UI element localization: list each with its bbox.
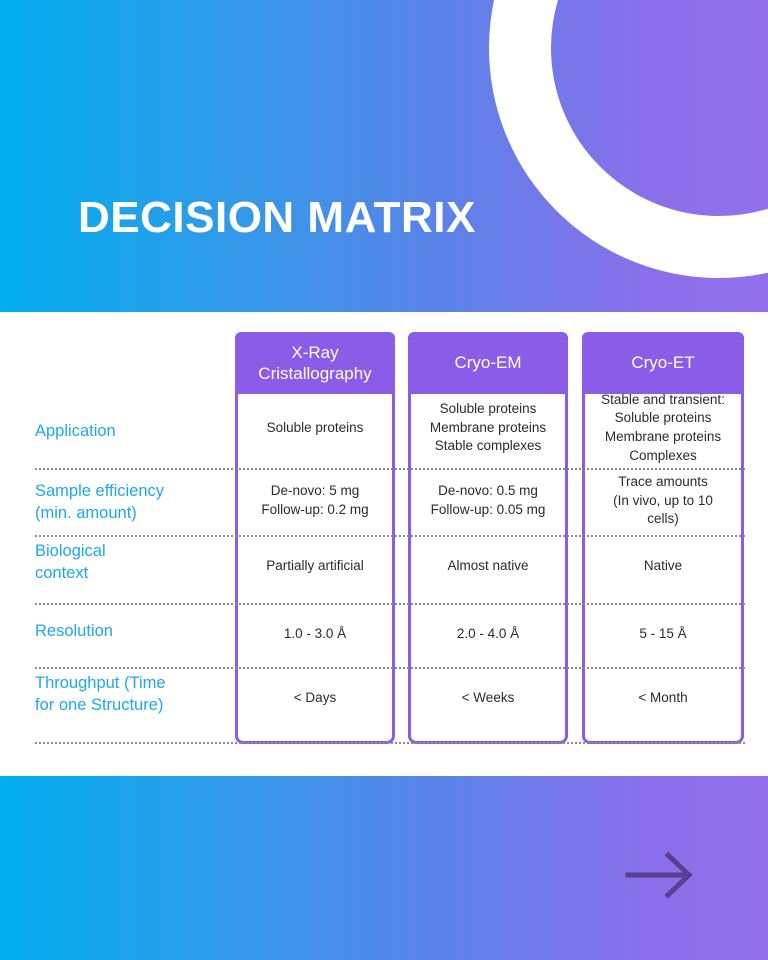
row-label-resolution: Resolution xyxy=(35,620,230,642)
row-separator-2 xyxy=(35,535,745,537)
cell-resolution-cryoet: 5 - 15 Å xyxy=(585,606,741,662)
cell-resolution-xray: 1.0 - 3.0 Å xyxy=(238,606,392,662)
page-title: DECISION MATRIX xyxy=(78,196,476,240)
decision-matrix-poster: DECISION MATRIX X-Ray Cristallography Cr… xyxy=(0,0,768,960)
row-label-biological-context: Biological context xyxy=(35,540,230,585)
header-banner: DECISION MATRIX xyxy=(0,0,768,312)
row-label-throughput: Throughput (Time for one Structure) xyxy=(35,672,230,717)
cell-biological-context-cryoet: Native xyxy=(585,538,741,594)
column-header-cryoet-label: Cryo-ET xyxy=(631,352,694,373)
cell-biological-context-cryoem: Almost native xyxy=(411,538,565,594)
column-header-cryoem: Cryo-EM xyxy=(408,332,568,394)
cell-sample-efficiency-cryoet: Trace amounts (In vivo, up to 10 cells) xyxy=(585,470,741,532)
cell-sample-efficiency-xray: De-novo: 5 mg Follow-up: 0.2 mg xyxy=(238,470,392,532)
cell-sample-efficiency-cryoem: De-novo: 0.5 mg Follow-up: 0.05 mg xyxy=(411,470,565,532)
cell-throughput-cryoet: < Month xyxy=(585,670,741,726)
row-separator-1 xyxy=(35,468,745,470)
arrow-right-icon[interactable] xyxy=(622,845,698,905)
row-label-application: Application xyxy=(35,420,230,442)
decision-matrix-table: X-Ray Cristallography Cryo-EM Cryo-ET Ap… xyxy=(0,312,768,776)
row-separator-4 xyxy=(35,667,745,669)
cell-application-cryoet: Stable and transient: Soluble proteins M… xyxy=(585,394,741,462)
cell-application-cryoem: Soluble proteins Membrane proteins Stabl… xyxy=(411,394,565,462)
cell-resolution-cryoem: 2.0 - 4.0 Å xyxy=(411,606,565,662)
cell-throughput-xray: < Days xyxy=(238,670,392,726)
column-header-cryoem-label: Cryo-EM xyxy=(454,352,521,373)
row-separator-3 xyxy=(35,603,745,605)
decorative-ring-icon xyxy=(489,0,768,278)
cell-throughput-cryoem: < Weeks xyxy=(411,670,565,726)
row-label-sample-efficiency: Sample efficiency (min. amount) xyxy=(35,480,230,525)
row-separator-5 xyxy=(35,742,745,744)
column-header-cryoet: Cryo-ET xyxy=(582,332,744,394)
cell-application-xray: Soluble proteins xyxy=(238,394,392,462)
column-header-xray-label: X-Ray Cristallography xyxy=(258,342,371,385)
column-header-xray: X-Ray Cristallography xyxy=(235,332,395,394)
cell-biological-context-xray: Partially artificial xyxy=(238,538,392,594)
